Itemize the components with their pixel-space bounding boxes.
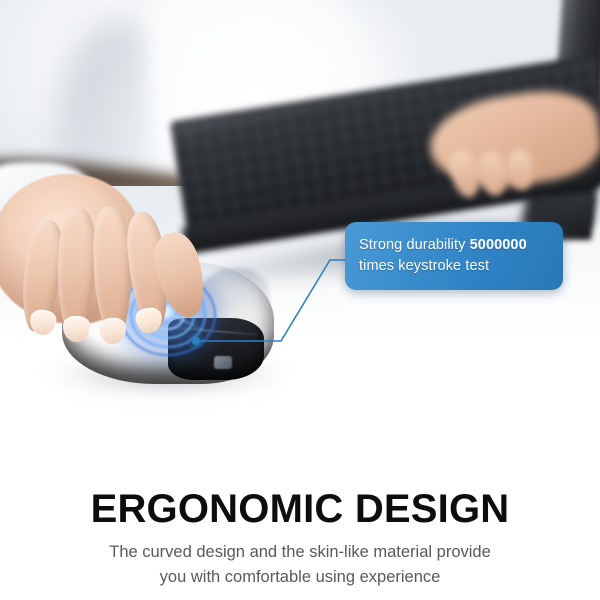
product-poster: Strong durability 5000000 times keystrok… xyxy=(0,0,600,600)
fingernail xyxy=(99,318,127,345)
badge-line1-value: 5000000 xyxy=(470,237,527,253)
subtitle-line-1: The curved design and the skin-like mate… xyxy=(0,531,600,565)
fingernail xyxy=(29,309,58,337)
callout-badge-text: Strong durability 5000000 times keystrok… xyxy=(359,235,527,277)
callout-badge: Strong durability 5000000 times keystrok… xyxy=(345,222,563,290)
badge-line1-prefix: Strong durability xyxy=(359,237,470,253)
fingernail xyxy=(63,316,91,343)
fingernail xyxy=(135,307,164,335)
subtitle-line-2: you with comfortable using experience xyxy=(0,565,600,590)
page-title: ERGONOMIC DESIGN xyxy=(0,440,600,531)
product-photo: Strong durability 5000000 times keystrok… xyxy=(0,0,600,440)
badge-line2: times keystroke test xyxy=(359,258,489,274)
left-hand xyxy=(0,168,220,383)
caption-block: ERGONOMIC DESIGN The curved design and t… xyxy=(0,440,600,600)
